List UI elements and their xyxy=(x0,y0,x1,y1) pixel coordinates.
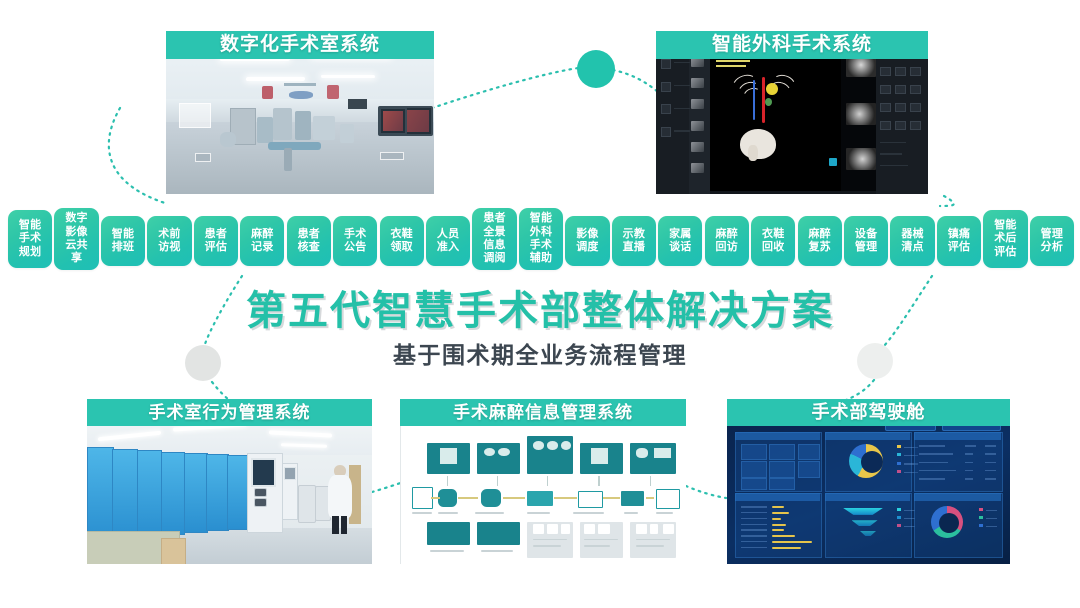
process-step-label: 患者 全景 信息 调阅 xyxy=(472,212,516,266)
line-topright-to-chips xyxy=(940,196,954,206)
card-or-cockpit-title: 手术部驾驶舱 xyxy=(727,399,1010,426)
process-step-23[interactable]: 管理 分析 xyxy=(1030,216,1074,266)
process-step-5[interactable]: 患者 评估 xyxy=(194,216,238,266)
line-topleft-to-node xyxy=(432,68,578,108)
process-step-13[interactable]: 影像 调度 xyxy=(565,216,609,266)
process-step-label: 智能 外科 手术 辅助 xyxy=(519,212,563,266)
process-step-label: 人员 准入 xyxy=(426,228,470,255)
process-step-18[interactable]: 麻醉 复苏 xyxy=(798,216,842,266)
process-step-label: 麻醉 复苏 xyxy=(798,228,842,255)
page-title: 第五代智慧手术部整体解决方案 xyxy=(0,288,1080,334)
card-anesthesia-info[interactable]: 手术麻醉信息管理系统 xyxy=(400,399,686,564)
page-subtitle: 基于围术期全业务流程管理 xyxy=(0,340,1080,370)
process-step-10[interactable]: 人员 准入 xyxy=(426,216,470,266)
process-step-20[interactable]: 器械 清点 xyxy=(890,216,934,266)
line-left-upper xyxy=(109,108,168,204)
process-step-label: 示教 直播 xyxy=(612,228,656,255)
process-step-1[interactable]: 智能 手术 规划 xyxy=(8,210,52,268)
process-chain: 智能 手术 规划数字 影像 云共 享智能 排班术前 访视患者 评估麻醉 记录患者… xyxy=(0,208,1080,274)
process-step-label: 设备 管理 xyxy=(844,228,888,255)
card-digital-or-title: 数字化手术室系统 xyxy=(166,31,434,59)
process-step-label: 术前 访视 xyxy=(147,228,191,255)
process-step-label: 器械 清点 xyxy=(890,228,934,255)
process-step-14[interactable]: 示教 直播 xyxy=(612,216,656,266)
card-or-behavior[interactable]: 手术室行为管理系统 xyxy=(87,399,372,564)
process-step-label: 家属 谈话 xyxy=(658,228,702,255)
process-step-label: 麻醉 回访 xyxy=(705,228,749,255)
process-step-label: 患者 评估 xyxy=(194,228,238,255)
card-smart-surgery[interactable]: Hisense Medical xyxy=(656,31,928,194)
card-smart-surgery-title: 智能外科手术系统 xyxy=(656,31,928,59)
line-bottomcenter-to-bottomright xyxy=(686,486,726,498)
process-step-label: 手术 公告 xyxy=(333,228,377,255)
process-step-16[interactable]: 麻醉 回访 xyxy=(705,216,749,266)
top-connector-node xyxy=(577,50,615,88)
process-step-label: 衣鞋 领取 xyxy=(380,228,424,255)
process-step-19[interactable]: 设备 管理 xyxy=(844,216,888,266)
process-step-label: 麻醉 记录 xyxy=(240,228,284,255)
line-rightnode-to-bottomright xyxy=(846,380,874,400)
process-step-17[interactable]: 衣鞋 回收 xyxy=(751,216,795,266)
process-step-11[interactable]: 患者 全景 信息 调阅 xyxy=(472,208,516,270)
process-step-label: 智能 排班 xyxy=(101,228,145,255)
process-step-9[interactable]: 衣鞋 领取 xyxy=(380,216,424,266)
process-step-8[interactable]: 手术 公告 xyxy=(333,216,377,266)
line-node-to-topright xyxy=(613,70,658,92)
process-step-21[interactable]: 镇痛 评估 xyxy=(937,216,981,266)
process-step-2[interactable]: 数字 影像 云共 享 xyxy=(54,208,98,270)
process-step-label: 影像 调度 xyxy=(565,228,609,255)
card-or-behavior-title: 手术室行为管理系统 xyxy=(87,399,372,426)
process-step-6[interactable]: 麻醉 记录 xyxy=(240,216,284,266)
process-step-15[interactable]: 家属 谈话 xyxy=(658,216,702,266)
headline-block: 第五代智慧手术部整体解决方案 基于围术期全业务流程管理 xyxy=(0,288,1080,370)
process-step-label: 衣鞋 回收 xyxy=(751,228,795,255)
process-step-label: 智能 术后 评估 xyxy=(983,219,1027,259)
process-step-3[interactable]: 智能 排班 xyxy=(101,216,145,266)
card-or-cockpit[interactable]: Hisense Medical ····· ▬▬▬ ····· xyxy=(727,399,1010,564)
process-step-label: 患者 核查 xyxy=(287,228,331,255)
process-step-label: 数字 影像 云共 享 xyxy=(54,212,98,266)
process-step-label: 管理 分析 xyxy=(1030,228,1074,255)
process-step-label: 镇痛 评估 xyxy=(937,228,981,255)
card-anesthesia-info-title: 手术麻醉信息管理系统 xyxy=(400,399,686,426)
process-step-22[interactable]: 智能 术后 评估 xyxy=(983,210,1027,268)
process-step-4[interactable]: 术前 访视 xyxy=(147,216,191,266)
process-step-label: 智能 手术 规划 xyxy=(8,219,52,259)
process-step-7[interactable]: 患者 核查 xyxy=(287,216,331,266)
card-digital-or[interactable]: 数字化手术室系统 xyxy=(166,31,434,194)
poster-canvas: 数字化手术室系统 Hisense Medical xyxy=(0,0,1080,608)
process-step-12[interactable]: 智能 外科 手术 辅助 xyxy=(519,208,563,270)
